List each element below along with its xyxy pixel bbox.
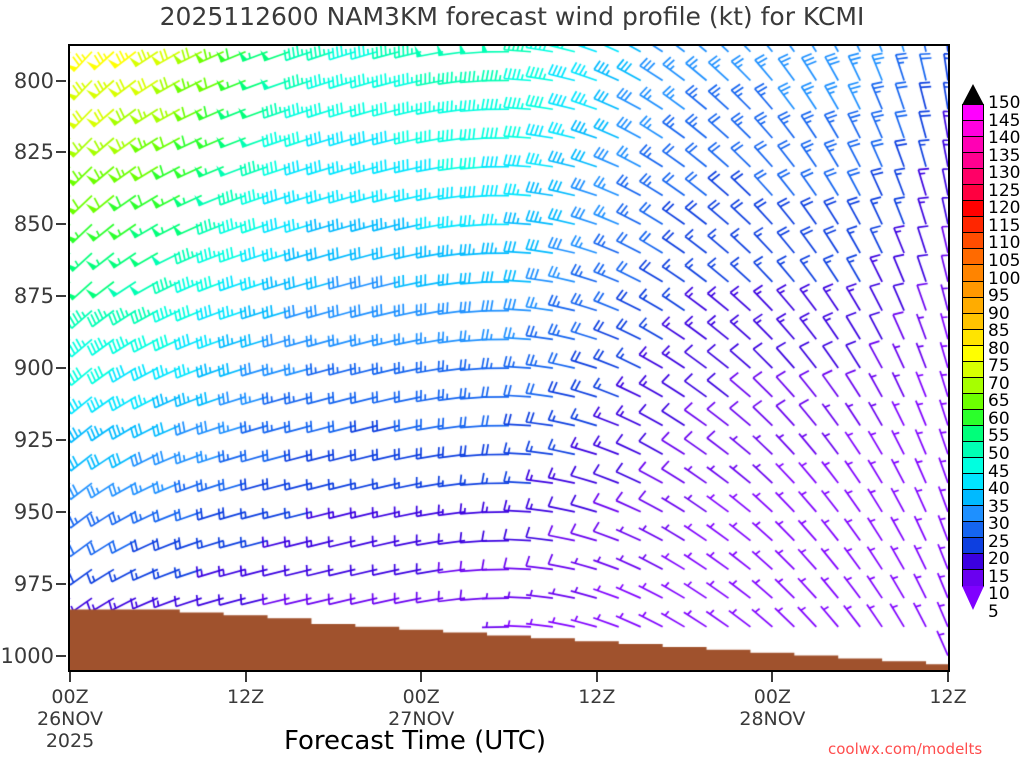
colorbar-bottom-cap	[962, 586, 984, 610]
colorbar-segment	[962, 345, 984, 363]
colorbar-segment	[962, 361, 984, 379]
y-axis-tick	[56, 511, 66, 513]
y-axis-tick	[56, 367, 66, 369]
colorbar-top-cap	[962, 84, 984, 105]
y-axis-tick	[56, 295, 66, 297]
x-axis-tick	[245, 672, 247, 682]
colorbar-segment	[962, 104, 984, 122]
y-axis-tick-label: 800	[14, 69, 54, 93]
y-axis-tick-label: 825	[14, 140, 54, 164]
colorbar-segment	[962, 537, 984, 555]
wind-barb-field	[70, 46, 948, 670]
colorbar-segment	[962, 152, 984, 170]
y-axis-tick	[56, 439, 66, 441]
y-axis-tick-label: 875	[14, 284, 54, 308]
plot-area	[68, 44, 950, 672]
colorbar-segment	[962, 569, 984, 587]
x-tick-time: 12Z	[578, 686, 615, 708]
colorbar-segment	[962, 425, 984, 443]
colorbar-segment	[962, 136, 984, 154]
y-axis-tick-label: 1000	[1, 644, 54, 668]
x-tick-time: 00Z	[37, 686, 103, 708]
x-axis-tick	[771, 672, 773, 682]
y-axis-tick-label: 850	[14, 212, 54, 236]
colorbar-segment	[962, 473, 984, 491]
colorbar-segment	[962, 297, 984, 315]
colorbar-segment	[962, 329, 984, 347]
colorbar-segment	[962, 553, 984, 571]
colorbar-segment	[962, 216, 984, 234]
colorbar-segment	[962, 489, 984, 507]
colorbar-segment	[962, 232, 984, 250]
colorbar-segment	[962, 200, 984, 218]
y-axis-tick	[56, 151, 66, 153]
x-axis-tick	[420, 672, 422, 682]
x-axis-tick-label: 12Z	[578, 686, 615, 708]
colorbar-segment	[962, 281, 984, 299]
x-axis-tick-label: 12Z	[227, 686, 264, 708]
watermark: coolwx.com/modelts	[828, 740, 982, 758]
y-axis-tick	[56, 655, 66, 657]
colorbar-segment	[962, 248, 984, 266]
colorbar-tick-label: 5	[988, 602, 999, 622]
colorbar-segment	[962, 457, 984, 475]
y-axis-tick-label: 975	[14, 572, 54, 596]
x-tick-time: 00Z	[739, 686, 805, 708]
x-axis-tick	[596, 672, 598, 682]
x-tick-time: 00Z	[388, 686, 454, 708]
colorbar-segment	[962, 441, 984, 459]
y-axis-tick-label: 900	[14, 356, 54, 380]
wind-profile-chart: 2025112600 NAM3KM forecast wind profile …	[0, 0, 1024, 768]
x-axis-tick-label: 12Z	[929, 686, 966, 708]
colorbar-segment	[962, 313, 984, 331]
page-title: 2025112600 NAM3KM forecast wind profile …	[0, 2, 1024, 31]
colorbar-segment	[962, 521, 984, 539]
y-axis-tick	[56, 583, 66, 585]
x-axis-tick-label: 00Z27NOV	[388, 686, 454, 730]
y-axis-tick	[56, 223, 66, 225]
colorbar-segment	[962, 409, 984, 427]
colorbar-segment	[962, 377, 984, 395]
colorbar	[962, 104, 984, 587]
y-axis-tick	[56, 80, 66, 82]
y-axis-tick-label: 950	[14, 500, 54, 524]
colorbar-segment	[962, 120, 984, 138]
x-axis-tick	[947, 672, 949, 682]
y-axis-tick-label: 925	[14, 428, 54, 452]
x-tick-time: 12Z	[227, 686, 264, 708]
x-axis-tick-label: 00Z28NOV	[739, 686, 805, 730]
x-axis-tick	[69, 672, 71, 682]
x-tick-time: 12Z	[929, 686, 966, 708]
colorbar-segment	[962, 168, 984, 186]
y-axis-labels: 8008258508759009259509751000	[0, 44, 66, 672]
colorbar-segment	[962, 264, 984, 282]
colorbar-segment	[962, 505, 984, 523]
colorbar-segment	[962, 393, 984, 411]
x-axis-title: Forecast Time (UTC)	[0, 726, 830, 756]
colorbar-segment	[962, 184, 984, 202]
